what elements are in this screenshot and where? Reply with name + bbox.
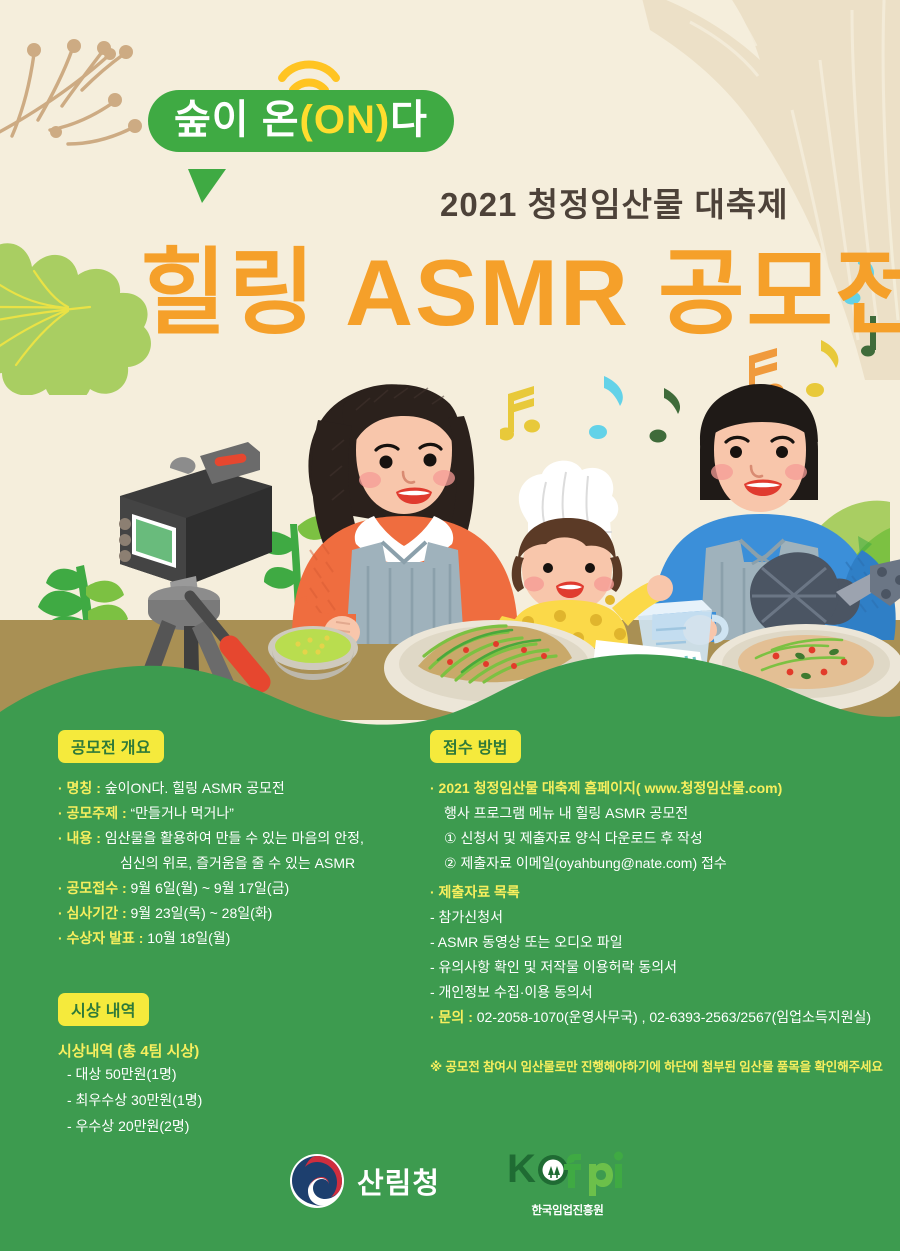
doc-item: - 유의사항 확인 및 저작물 이용허락 동의서 — [430, 955, 880, 980]
overview-item-value: 임산물을 활용하여 만들 수 있는 마음의 안정, — [105, 830, 364, 846]
taegeuk-icon — [288, 1152, 346, 1210]
overview-badge: 공모전 개요 — [58, 730, 164, 763]
contact-key: · 문의 : — [430, 1009, 477, 1025]
apply-line-2: 행사 프로그램 메뉴 내 힐링 ASMR 공모전 — [430, 801, 880, 826]
apply-line-4: ② 제출자료 이메일(oyahbung@nate.com) 접수 — [430, 851, 880, 876]
overview-column: 공모전 개요 · 명칭 : 숲이ON다. 힐링 ASMR 공모전 · 공모주제 … — [58, 730, 408, 1139]
korea-forest-service-logo: 산림청 — [288, 1152, 440, 1210]
mother-figure — [292, 384, 518, 648]
awards-badge: 시상 내역 — [58, 993, 149, 1026]
apply-column: 접수 방법 · 2021 청정임산물 대축제 홈페이지( www.청정임산물.c… — [430, 730, 880, 1075]
content-area: 공모전 개요 · 명칭 : 숲이ON다. 힐링 ASMR 공모전 · 공모주제 … — [0, 720, 900, 1140]
doc-item: - 참가신청서 — [430, 905, 880, 930]
contact-line: · 문의 : 02-2058-1070(운영사무국) , 02-6393-256… — [430, 1005, 880, 1030]
apply-line-3: ① 신청서 및 제출자료 양식 다운로드 후 작성 — [430, 826, 880, 851]
overview-item-key: · 내용 : — [58, 830, 105, 846]
overview-item-key: · 공모접수 : — [58, 880, 131, 896]
kfs-label: 산림청 — [357, 1160, 440, 1202]
contact-value: 02-2058-1070(운영사무국) , 02-6393-2563/2567(… — [477, 1009, 871, 1025]
svg-text:K: K — [507, 1147, 536, 1191]
apply-badge: 접수 방법 — [430, 730, 521, 763]
overview-item-key: · 수상자 발표 : — [58, 930, 147, 946]
slogan-pre: 숲이 온 — [174, 98, 300, 142]
docs-title: · 제출자료 목록 — [430, 880, 880, 905]
overview-item: · 공모주제 : “만들거나 먹거나” — [58, 801, 408, 826]
notice-text: ※ 공모전 참여시 임산물로만 진행해야하기에 하단에 첨부된 임산물 품목을 … — [430, 1056, 880, 1075]
overview-item-value: 9월 6일(월) ~ 9월 17일(금) — [131, 880, 290, 896]
overview-item-value: 10월 18일(월) — [147, 930, 230, 946]
overview-item: 심신의 위로, 즐거움을 줄 수 있는 ASMR — [58, 851, 408, 876]
overview-item-value: 심신의 위로, 즐거움을 줄 수 있는 ASMR — [120, 855, 355, 871]
kofpi-sublabel: 한국임업진흥원 — [505, 1202, 630, 1218]
festival-subtitle: 2021 청정임산물 대축제 — [440, 178, 789, 226]
slogan-post: 다 — [390, 98, 428, 142]
kofpi-logo: K 한국임업진흥원 — [505, 1146, 630, 1218]
overview-item-value: 숲이ON다. 힐링 ASMR 공모전 — [105, 780, 285, 796]
overview-item: · 명칭 : 숲이ON다. 힐링 ASMR 공모전 — [58, 776, 408, 801]
apply-list: · 2021 청정임산물 대축제 홈페이지( www.청정임산물.com) 행사… — [430, 776, 880, 1030]
overview-item-value: 9월 23일(목) ~ 28일(화) — [131, 905, 273, 921]
slogan-bubble: 숲이 온(ON)다 — [148, 90, 454, 152]
page-title: 힐링 ASMR 공모전 — [140, 246, 900, 340]
overview-item-key: · 공모주제 : — [58, 805, 131, 821]
overview-item: · 수상자 발표 : 10월 18일(월) — [58, 926, 408, 951]
bubble-tail — [188, 169, 226, 203]
overview-item: · 내용 : 임산물을 활용하여 만들 수 있는 마음의 안정, — [58, 826, 408, 851]
kofpi-wordmark-icon: K — [505, 1146, 630, 1196]
apply-line-1: · 2021 청정임산물 대축제 홈페이지( www.청정임산물.com) — [430, 776, 880, 801]
headline-block: 숲이 온(ON)다 2021 청정임산물 대축제 힐링 ASMR 공모전 — [0, 60, 900, 170]
overview-list: · 명칭 : 숲이ON다. 힐링 ASMR 공모전 · 공모주제 : “만들거나… — [58, 776, 408, 951]
overview-item: · 심사기간 : 9월 23일(목) ~ 28일(화) — [58, 901, 408, 926]
overview-item-key: · 명칭 : — [58, 780, 105, 796]
poster: 숲이 온(ON)다 2021 청정임산물 대축제 힐링 ASMR 공모전 공모전… — [0, 0, 900, 1251]
award-item: - 우수상 20만원(2명) — [58, 1113, 408, 1139]
overview-item: · 공모접수 : 9월 6일(월) ~ 9월 17일(금) — [58, 876, 408, 901]
overview-item-value: “만들거나 먹거나” — [131, 805, 234, 821]
doc-item: - ASMR 동영상 또는 오디오 파일 — [430, 930, 880, 955]
doc-item: - 개인정보 수집·이용 동의서 — [430, 980, 880, 1005]
awards-title: 시상내역 (총 4팀 시상) — [58, 1040, 408, 1061]
overview-item-key: · 심사기간 : — [58, 905, 131, 921]
footer-logos: 산림청 K 한국임업진흥원 — [0, 1140, 900, 1240]
slogan-on: (ON) — [300, 98, 391, 142]
awards-section: 시상 내역 시상내역 (총 4팀 시상) - 대상 50만원(1명) - 최우수… — [58, 993, 408, 1139]
award-item: - 대상 50만원(1명) — [58, 1061, 408, 1087]
award-item: - 최우수상 30만원(1명) — [58, 1087, 408, 1113]
